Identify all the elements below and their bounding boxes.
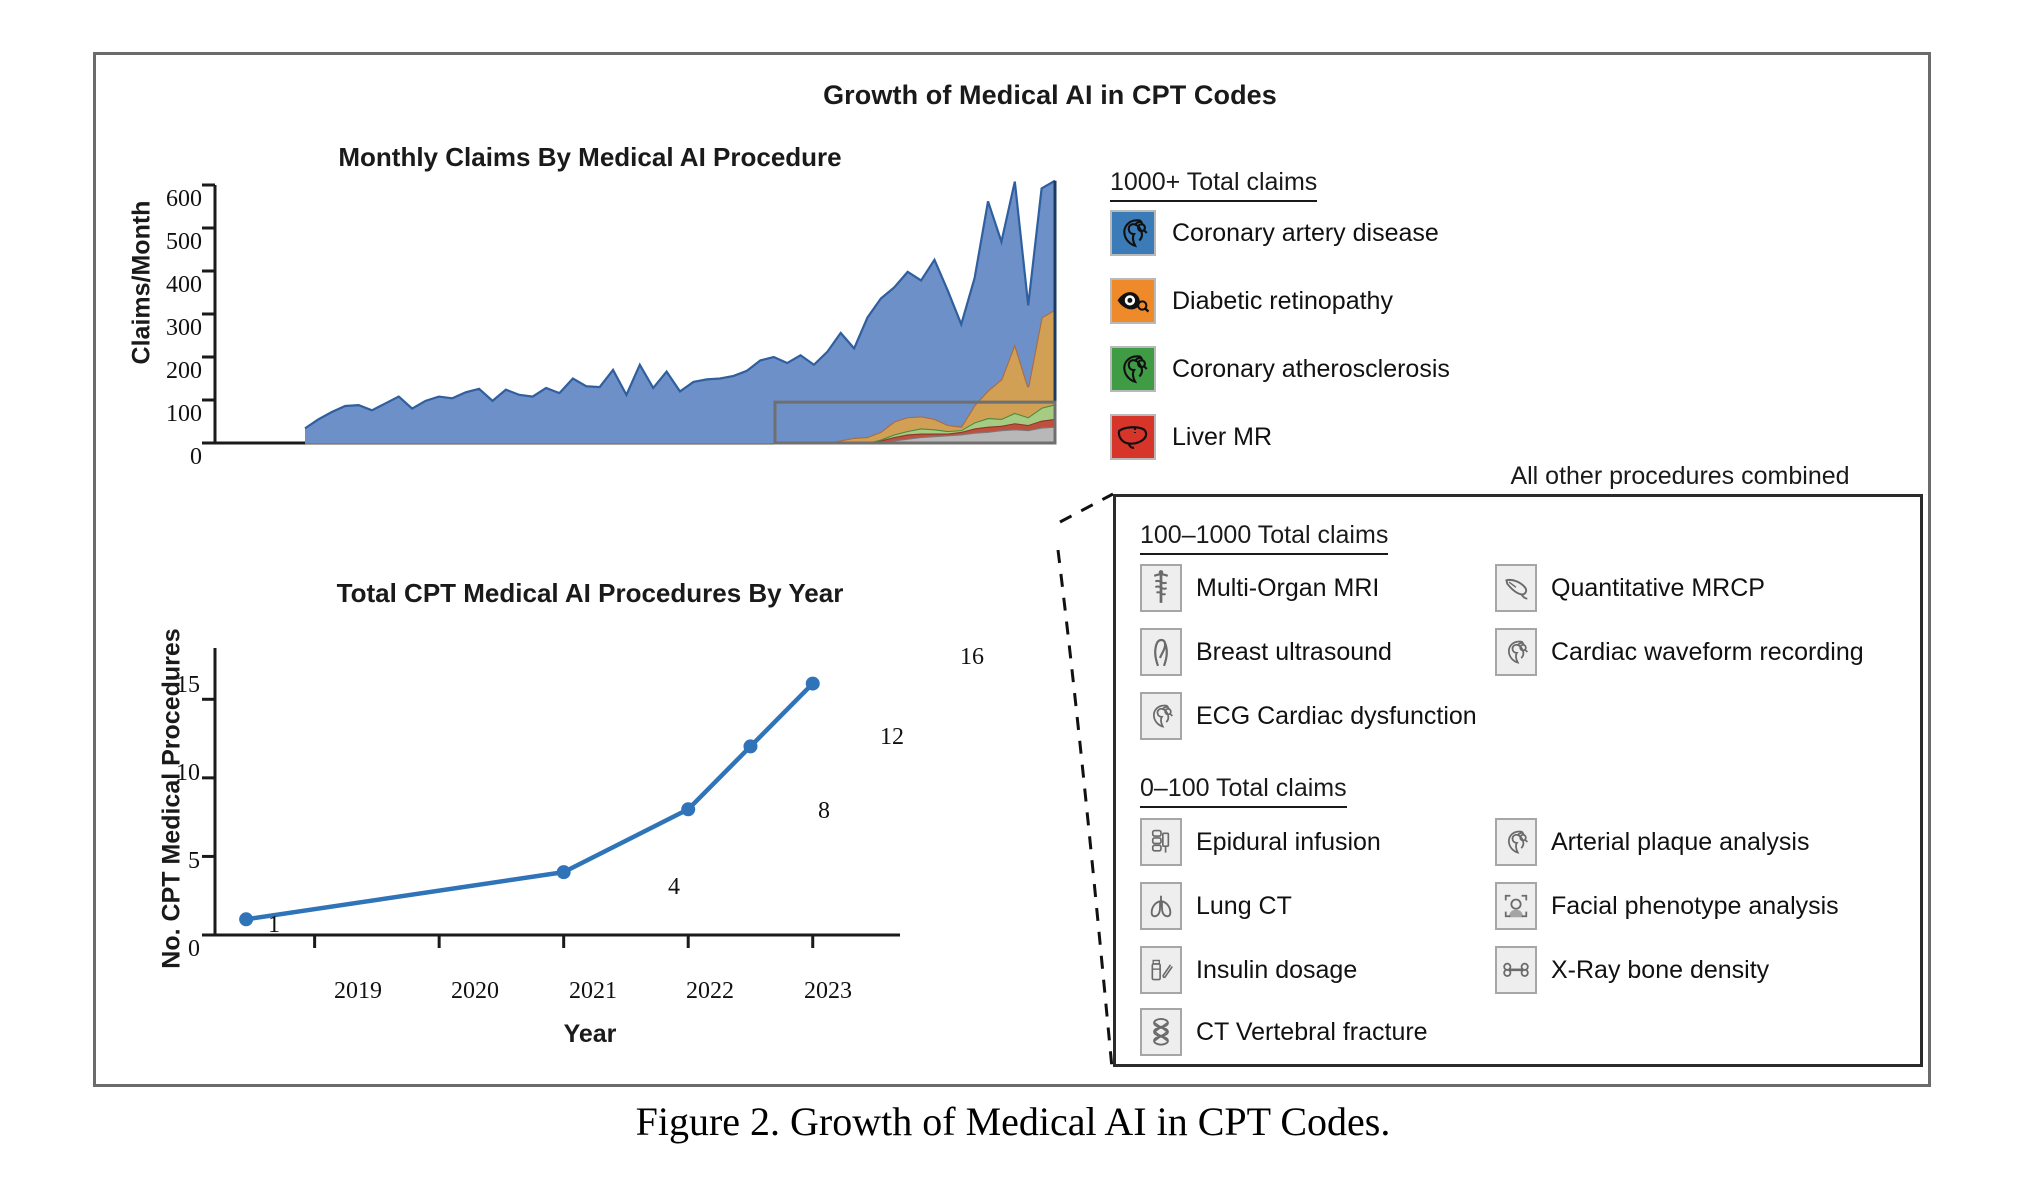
inset-item-arterial-plaque-analysis[interactable]: Arterial plaque analysis <box>1495 818 1809 866</box>
figure-root: Growth of Medical AI in CPT Codes Monthl… <box>0 0 2026 1178</box>
inset-item-facial-phenotype-analysis[interactable]: Facial phenotype analysis <box>1495 882 1839 930</box>
inset-item-label: Facial phenotype analysis <box>1551 892 1839 921</box>
legend-item-label: Diabetic retinopathy <box>1172 287 1393 316</box>
area-ytick: 300 <box>130 315 202 342</box>
ribbon-icon <box>1140 628 1182 676</box>
inset-item-label: X-Ray bone density <box>1551 956 1769 985</box>
area-ytick: 100 <box>130 401 202 428</box>
area-chart-title: Monthly Claims By Medical AI Procedure <box>250 142 930 173</box>
pancreas-icon <box>1495 564 1537 612</box>
area-ytick: 200 <box>130 358 202 385</box>
area-ytick: 0 <box>130 444 202 471</box>
area-ytick: 400 <box>130 272 202 299</box>
inset-item-label: CT Vertebral fracture <box>1196 1018 1428 1047</box>
vertebra-icon <box>1140 1008 1182 1056</box>
line-xtick: 2023 <box>783 978 873 1005</box>
vial-syringe-icon <box>1140 946 1182 994</box>
line-point-label: 4 <box>668 874 680 901</box>
inset-heading-0-100: 0–100 Total claims <box>1140 774 1347 808</box>
caduceus-icon <box>1140 564 1182 612</box>
inset-item-ecg-cardiac-dysfunction[interactable]: ECG Cardiac dysfunction <box>1140 692 1477 740</box>
inset-item-label: Cardiac waveform recording <box>1551 638 1864 667</box>
legend-heading-1000plus: 1000+ Total claims <box>1110 168 1317 202</box>
line-xtick: 2021 <box>548 978 638 1005</box>
line-ytick: 5 <box>150 848 200 875</box>
inset-item-multi-organ-mri[interactable]: Multi-Organ MRI <box>1140 564 1379 612</box>
area-ytick: 500 <box>130 229 202 256</box>
line-point-label: 16 <box>960 644 984 671</box>
line-chart-plot <box>215 630 915 970</box>
legend-item-liver-mr[interactable]: Liver MR <box>1110 414 1272 460</box>
legend-item-label: Coronary atherosclerosis <box>1172 355 1450 384</box>
inset-item-ct-vertebral-fracture[interactable]: CT Vertebral fracture <box>1140 1008 1428 1056</box>
liver-icon <box>1110 414 1156 460</box>
inset-item-label: Lung CT <box>1196 892 1292 921</box>
inset-item-label: ECG Cardiac dysfunction <box>1196 702 1477 731</box>
line-point-label: 8 <box>818 798 830 825</box>
line-ytick: 0 <box>150 936 200 963</box>
inset-item-cardiac-waveform-recording[interactable]: Cardiac waveform recording <box>1495 628 1864 676</box>
inset-item-insulin-dosage[interactable]: Insulin dosage <box>1140 946 1357 994</box>
heart-icon <box>1140 692 1182 740</box>
heart-icon <box>1110 210 1156 256</box>
line-xtick: 2022 <box>665 978 755 1005</box>
line-ytick: 15 <box>150 672 200 699</box>
heart-icon <box>1495 818 1537 866</box>
lungs-icon <box>1140 882 1182 930</box>
legend-item-label: Coronary artery disease <box>1172 219 1439 248</box>
legend-item-diabetic-retinopathy[interactable]: Diabetic retinopathy <box>1110 278 1393 324</box>
eye-icon <box>1110 278 1156 324</box>
inset-item-xray-bone-density[interactable]: X-Ray bone density <box>1495 946 1769 994</box>
legend-item-coronary-atherosclerosis[interactable]: Coronary atherosclerosis <box>1110 346 1450 392</box>
inset-item-breast-ultrasound[interactable]: Breast ultrasound <box>1140 628 1392 676</box>
line-chart-xlabel: Year <box>380 1020 800 1049</box>
inset-item-label: Arterial plaque analysis <box>1551 828 1809 857</box>
spine-syringe-icon <box>1140 818 1182 866</box>
inset-item-label: Insulin dosage <box>1196 956 1357 985</box>
inset-caption: All other procedures combined <box>1450 462 1910 491</box>
area-chart-plot <box>215 185 1075 545</box>
legend-item-coronary-artery-disease[interactable]: Coronary artery disease <box>1110 210 1439 256</box>
inset-item-epidural-infusion[interactable]: Epidural infusion <box>1140 818 1381 866</box>
line-ytick: 10 <box>150 760 200 787</box>
inset-heading-100-1000: 100–1000 Total claims <box>1140 521 1388 555</box>
face-scan-icon <box>1495 882 1537 930</box>
bone-icon <box>1495 946 1537 994</box>
area-ytick: 600 <box>130 186 202 213</box>
line-point-label: 1 <box>268 912 280 939</box>
figure-main-title: Growth of Medical AI in CPT Codes <box>640 80 1460 111</box>
inset-item-label: Epidural infusion <box>1196 828 1381 857</box>
inset-item-label: Breast ultrasound <box>1196 638 1392 667</box>
figure-caption: Figure 2. Growth of Medical AI in CPT Co… <box>0 1098 2026 1145</box>
inset-item-lung-ct[interactable]: Lung CT <box>1140 882 1292 930</box>
line-xtick: 2019 <box>313 978 403 1005</box>
inset-item-label: Quantitative MRCP <box>1551 574 1765 603</box>
legend-item-label: Liver MR <box>1172 423 1272 452</box>
inset-item-quantitative-mrcp[interactable]: Quantitative MRCP <box>1495 564 1765 612</box>
inset-item-label: Multi-Organ MRI <box>1196 574 1379 603</box>
heart-icon <box>1110 346 1156 392</box>
heart-icon <box>1495 628 1537 676</box>
line-xtick: 2020 <box>430 978 520 1005</box>
line-point-label: 12 <box>880 724 904 751</box>
line-chart-title: Total CPT Medical AI Procedures By Year <box>250 578 930 609</box>
